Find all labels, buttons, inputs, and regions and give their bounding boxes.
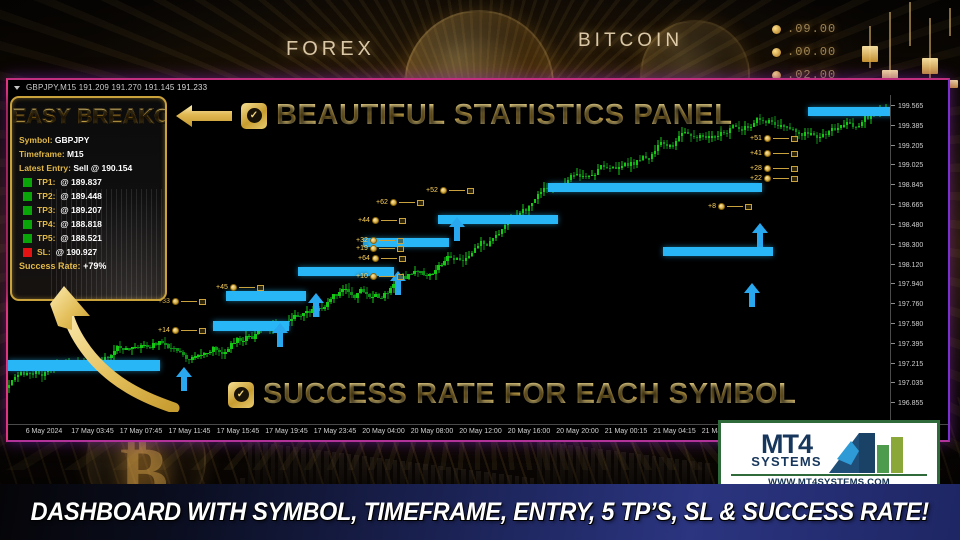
profit-tag: +28 [750,165,798,172]
sl-value: @ 190.927 [56,246,97,259]
tp1-value: @ 189.837 [60,176,101,189]
success-rate-label: Success Rate: [19,261,81,271]
entry-arrow-icon [272,323,288,347]
tag-box-icon [397,246,404,252]
takeprofit-swatch-icon [23,192,32,201]
callout-label: SUCCESS RATE FOR EACH SYMBOL [263,378,796,411]
success-rate-row: Success Rate: +79% [12,261,165,271]
time-tick: 21 May 00:15 [605,428,647,435]
price-tick: 197.035 [891,380,948,387]
entry-arrow-icon [744,283,760,307]
background-word-bitcoin: BITCOIN [578,30,683,52]
target-rows: TP1:@ 189.837TP2:@ 189.448TP3:@ 189.207T… [12,176,165,259]
time-tick: 17 May 07:45 [120,428,162,435]
tag-dot-icon [718,203,725,210]
tag-connector [727,206,743,207]
tag-connector [379,276,395,277]
tag-dot-icon [764,175,771,182]
chart-titlebar: GBPJPY,M15 191.209 191.270 191.145 191.2… [8,80,948,95]
tp3-label: TP3: [37,204,55,217]
time-tick: 17 May 19:45 [265,428,307,435]
price-tick: 199.385 [891,123,948,130]
tag-connector [773,138,789,139]
time-tick: 17 May 03:45 [71,428,113,435]
tag-dot-icon [230,284,237,291]
tp1-label: TP1: [37,176,55,189]
profit-tag-value: +62 [376,199,388,206]
price-tick: 197.760 [891,301,948,308]
checkmark-icon: ✓ [247,108,262,123]
tag-dot-icon [370,237,377,244]
tag-box-icon [791,166,798,172]
time-tick: 6 May 2024 [26,428,63,435]
tag-connector [239,287,255,288]
entry-label: Latest Entry: [19,163,71,173]
background-quote-value: .00.00 [787,45,836,59]
profit-tag-value: +41 [750,150,762,157]
time-tick: 20 May 16:00 [508,428,550,435]
arrow-left-icon [176,103,232,129]
price-tick: 197.395 [891,341,948,348]
panel-row-tp4: TP4:@ 188.818 [12,218,165,231]
profit-tag-value: +64 [358,255,370,262]
time-tick: 17 May 11:45 [169,428,211,435]
callout-label: BEAUTIFUL STATISTICS PANEL [276,99,733,132]
tag-dot-icon [764,150,771,157]
price-tick: 197.215 [891,361,948,368]
tag-connector [773,153,789,154]
tag-box-icon [397,238,404,244]
background-quote-row: .09.00 [772,22,836,36]
entry-arrow-icon [308,293,324,317]
tag-connector [379,240,395,241]
profit-tag-value: +10 [356,273,368,280]
promo-screenshot: FOREX BITCOIN ₿ .09.00.00.00.02.00.03.00… [0,0,960,540]
breakout-zone [226,291,306,301]
tag-dot-icon [372,217,379,224]
tag-box-icon [791,151,798,157]
tag-connector [773,168,789,169]
time-tick: 17 May 15:45 [217,428,259,435]
tag-connector [379,248,395,249]
profit-tag-value: +22 [750,175,762,182]
time-tick: 17 May 23:45 [314,428,356,435]
tp5-value: @ 188.521 [60,232,101,245]
timeframe-label: Timeframe: [19,149,65,159]
tag-box-icon [199,299,206,305]
statistics-panel[interactable]: EASY BREAKOUT Symbol: GBPJPY Timeframe: … [10,96,167,301]
tag-dot-icon [764,165,771,172]
timeframe-value: M15 [67,149,84,159]
price-tick: 197.940 [891,281,948,288]
panel-row-timeframe: Timeframe: M15 [12,148,165,160]
breakout-zone [808,107,890,116]
time-tick: 20 May 08:00 [411,428,453,435]
time-tick: 20 May 20:00 [556,428,598,435]
curved-arrow-icon [48,282,188,412]
tp3-value: @ 189.207 [60,204,101,217]
profit-tag-value: +45 [216,284,228,291]
tp2-label: TP2: [37,190,55,203]
entry-arrow-icon [752,223,768,247]
profit-tag: +8 [708,203,752,210]
price-tick: 199.025 [891,162,948,169]
price-tick: 196.855 [891,400,948,407]
tag-dot-icon [440,187,447,194]
time-tick: 21 May 04:15 [653,428,695,435]
entry-value: Sell @ 190.154 [73,163,132,173]
success-rate-value: +79% [83,261,106,271]
price-axis[interactable]: 199.565199.385199.205199.025198.845198.6… [890,95,948,424]
chevron-down-icon[interactable] [14,86,20,90]
profit-tag: +22 [750,175,798,182]
tp5-label: TP5: [37,232,55,245]
coin-dot-icon [772,25,781,34]
bottom-banner: DASHBOARD WITH SYMBOL, TIMEFRAME, ENTRY,… [0,484,960,540]
check-badge-icon: ✓ [241,103,267,129]
panel-title: EASY BREAKOUT [12,105,165,129]
tag-box-icon [199,328,206,334]
callout-success-rate-for-each-symbol: ✓ SUCCESS RATE FOR EACH SYMBOL [228,378,796,411]
profit-tag: +64 [358,255,406,262]
sl-label: SL: [37,246,51,259]
background-word-forex: FOREX [286,38,375,61]
time-tick: 20 May 12:00 [459,428,501,435]
logo-mark-icon [829,427,907,473]
callout-beautiful-statistics-panel: ✓ BEAUTIFUL STATISTICS PANEL [176,99,733,132]
panel-row-entry: Latest Entry: Sell @ 190.154 [12,162,165,174]
mt4-systems-logo: MT4 SYSTEMS WWW.MT4SYSTEMS.COM [718,420,940,488]
panel-row-tp3: TP3:@ 189.207 [12,204,165,217]
takeprofit-swatch-icon [23,178,32,187]
tp4-value: @ 188.818 [60,218,101,231]
profit-tag: +19 [356,245,404,252]
price-tick: 199.205 [891,143,948,150]
tag-connector [773,178,789,179]
price-tick: 198.300 [891,242,948,249]
profit-tag: +44 [358,217,406,224]
tag-connector [381,220,397,221]
tag-dot-icon [372,255,379,262]
price-tick: 197.580 [891,321,948,328]
logo-systems-text: SYSTEMS [751,456,822,468]
logo-mt4-text: MT4 [761,432,812,457]
price-tick: 198.480 [891,222,948,229]
checkmark-icon: ✓ [234,387,249,402]
price-tick: 198.845 [891,182,948,189]
breakout-zone [663,247,773,256]
tag-box-icon [745,204,752,210]
profit-tag-value: +51 [750,135,762,142]
panel-row-sl: SL:@ 190.927 [12,246,165,259]
background-quote-value: .09.00 [787,22,836,36]
profit-tag-value: +52 [426,187,438,194]
price-tick: 198.665 [891,202,948,209]
tag-dot-icon [764,135,771,142]
profit-tag: +51 [750,135,798,142]
tag-box-icon [399,218,406,224]
panel-row-symbol: Symbol: GBPJPY [12,134,165,146]
check-badge-icon: ✓ [228,382,254,408]
profit-tag: +32 [356,237,404,244]
time-tick: 20 May 04:00 [362,428,404,435]
profit-tag: +52 [426,187,474,194]
tag-connector [399,202,415,203]
entry-arrow-icon [449,217,465,241]
profit-tag-value: +8 [708,203,716,210]
tag-box-icon [399,256,406,262]
panel-row-tp5: TP5:@ 188.521 [12,232,165,245]
tag-box-icon [397,274,404,280]
logo-wordmark: MT4 SYSTEMS [751,432,822,469]
panel-row-tp1: TP1:@ 189.837 [12,176,165,189]
profit-tag: +10 [356,273,404,280]
tag-box-icon [467,188,474,194]
price-tick: 199.565 [891,103,948,110]
background-quote-row: .00.00 [772,45,836,59]
tag-dot-icon [370,273,377,280]
tag-box-icon [257,285,264,291]
chart-titlebar-label: GBPJPY,M15 191.209 191.270 191.145 191.2… [26,83,207,92]
tp2-value: @ 189.448 [60,190,101,203]
stoploss-swatch-icon [23,248,32,257]
profit-tag: +41 [750,150,798,157]
profit-tag-value: +32 [356,237,368,244]
tag-dot-icon [370,245,377,252]
profit-tag-value: +28 [750,165,762,172]
tag-connector [381,258,397,259]
symbol-value: GBPJPY [55,135,90,145]
profit-tag-value: +19 [356,245,368,252]
takeprofit-swatch-icon [23,206,32,215]
profit-tag: +45 [216,284,264,291]
tag-dot-icon [390,199,397,206]
tag-box-icon [791,136,798,142]
profit-tag-value: +44 [358,217,370,224]
symbol-label: Symbol: [19,135,53,145]
breakout-zone [548,183,762,192]
panel-row-tp2: TP2:@ 189.448 [12,190,165,203]
bottom-banner-label: DASHBOARD WITH SYMBOL, TIMEFRAME, ENTRY,… [31,498,929,527]
price-tick: 198.120 [891,262,948,269]
tag-connector [449,190,465,191]
coin-dot-icon [772,48,781,57]
tag-box-icon [417,200,424,206]
takeprofit-swatch-icon [23,234,32,243]
logo-main-row: MT4 SYSTEMS [751,427,907,473]
tag-box-icon [791,176,798,182]
takeprofit-swatch-icon [23,220,32,229]
tp4-label: TP4: [37,218,55,231]
profit-tag: +62 [376,199,424,206]
